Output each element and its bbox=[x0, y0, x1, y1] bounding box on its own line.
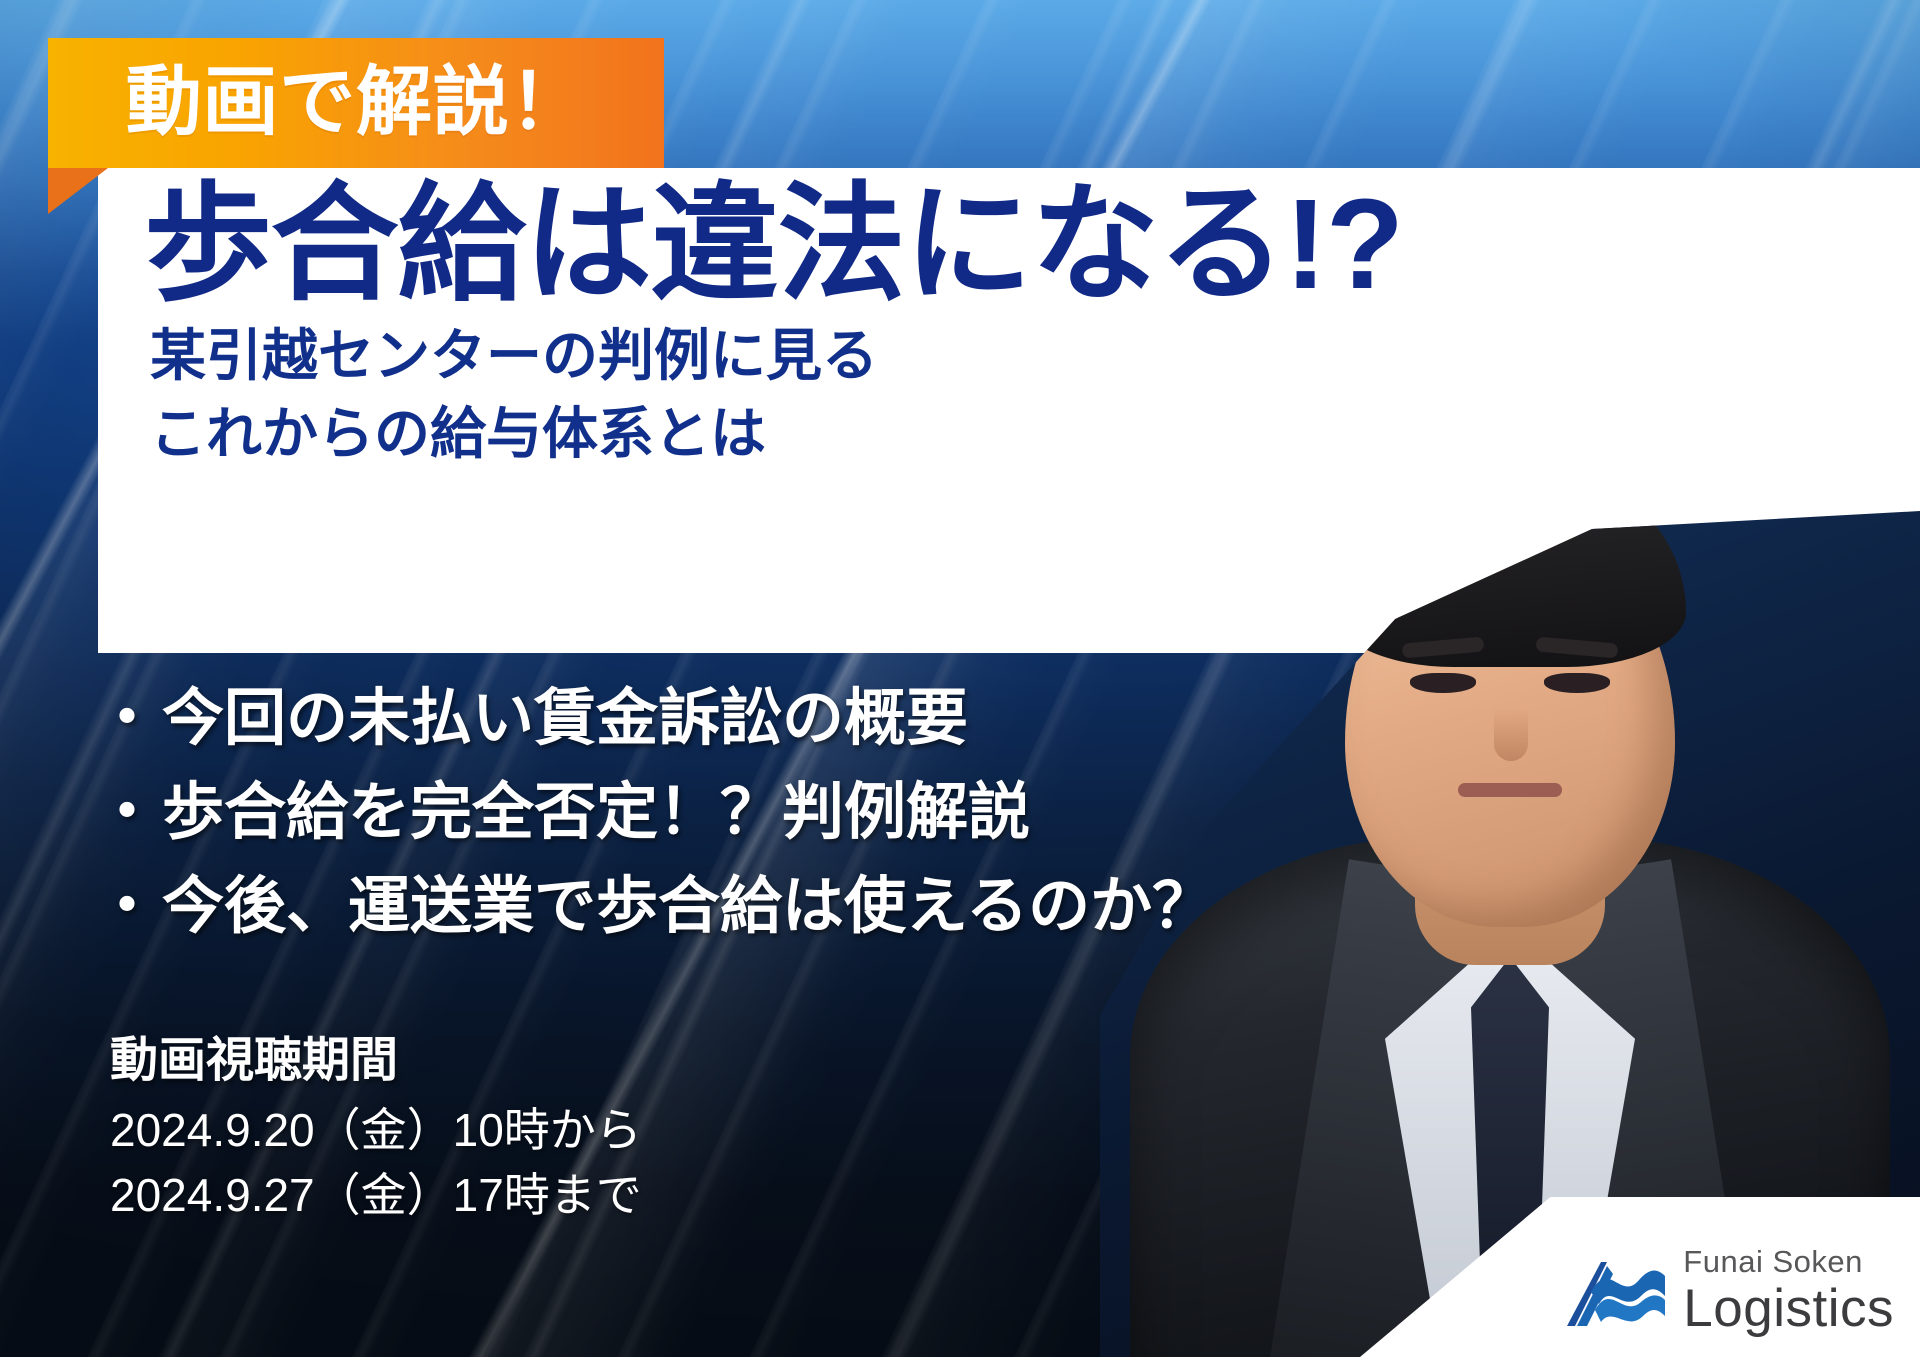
subtitle-line-1: 某引越センターの判例に見る bbox=[150, 320, 1910, 392]
bullet-marker-icon: ・ bbox=[96, 778, 158, 847]
badge-fold-corner bbox=[48, 168, 108, 214]
viewing-period-block: 動画視聴期間 2024.9.20（金）10時から 2024.9.27（金）17時… bbox=[110, 1032, 642, 1228]
eye-left bbox=[1410, 673, 1476, 693]
list-item: ・今後、運送業で歩合給は使えるのか？ bbox=[96, 860, 1216, 954]
viewing-period-start: 2024.9.20（金）10時から bbox=[110, 1098, 642, 1163]
viewing-period-end: 2024.9.27（金）17時まで bbox=[110, 1163, 642, 1228]
list-item-label: 今回の未払い賃金訴訟の概要 bbox=[162, 684, 968, 753]
page-title: 歩合給は違法になる!? bbox=[144, 176, 1910, 314]
list-item: ・歩合給を完全否定！？判例解説 bbox=[96, 766, 1216, 860]
brand-logo: Funai Soken Logistics bbox=[1561, 1246, 1894, 1335]
brand-logo-top: Funai Soken bbox=[1683, 1246, 1894, 1277]
viewing-period-title: 動画視聴期間 bbox=[110, 1032, 642, 1090]
topic-list: ・今回の未払い賃金訴訟の概要 ・歩合給を完全否定！？判例解説 ・今後、運送業で歩… bbox=[96, 672, 1216, 955]
video-badge: 動画で解説！ bbox=[48, 38, 664, 168]
video-badge-label: 動画で解説！ bbox=[126, 65, 587, 141]
mouth bbox=[1458, 783, 1562, 797]
brand-logo-text: Funai Soken Logistics bbox=[1683, 1246, 1894, 1335]
promo-banner: 歩合給は違法になる!? 某引越センターの判例に見る これからの給与体系とは 動画… bbox=[0, 0, 1920, 1357]
list-item-label: 今後、運送業で歩合給は使えるのか？ bbox=[162, 872, 1214, 941]
brand-logo-bottom: Logistics bbox=[1683, 1282, 1894, 1335]
nose bbox=[1494, 707, 1528, 761]
eye-right bbox=[1544, 673, 1610, 693]
headline-panel-inner: 歩合給は違法になる!? 某引越センターの判例に見る これからの給与体系とは bbox=[144, 176, 1910, 470]
funai-wave-mark-icon bbox=[1561, 1252, 1669, 1330]
list-item-label: 歩合給を完全否定！？判例解説 bbox=[162, 778, 1030, 847]
bullet-marker-icon: ・ bbox=[96, 872, 158, 941]
subtitle-line-2: これからの給与体系とは bbox=[150, 398, 1910, 470]
bullet-marker-icon: ・ bbox=[96, 684, 158, 753]
list-item: ・今回の未払い賃金訴訟の概要 bbox=[96, 672, 1216, 766]
